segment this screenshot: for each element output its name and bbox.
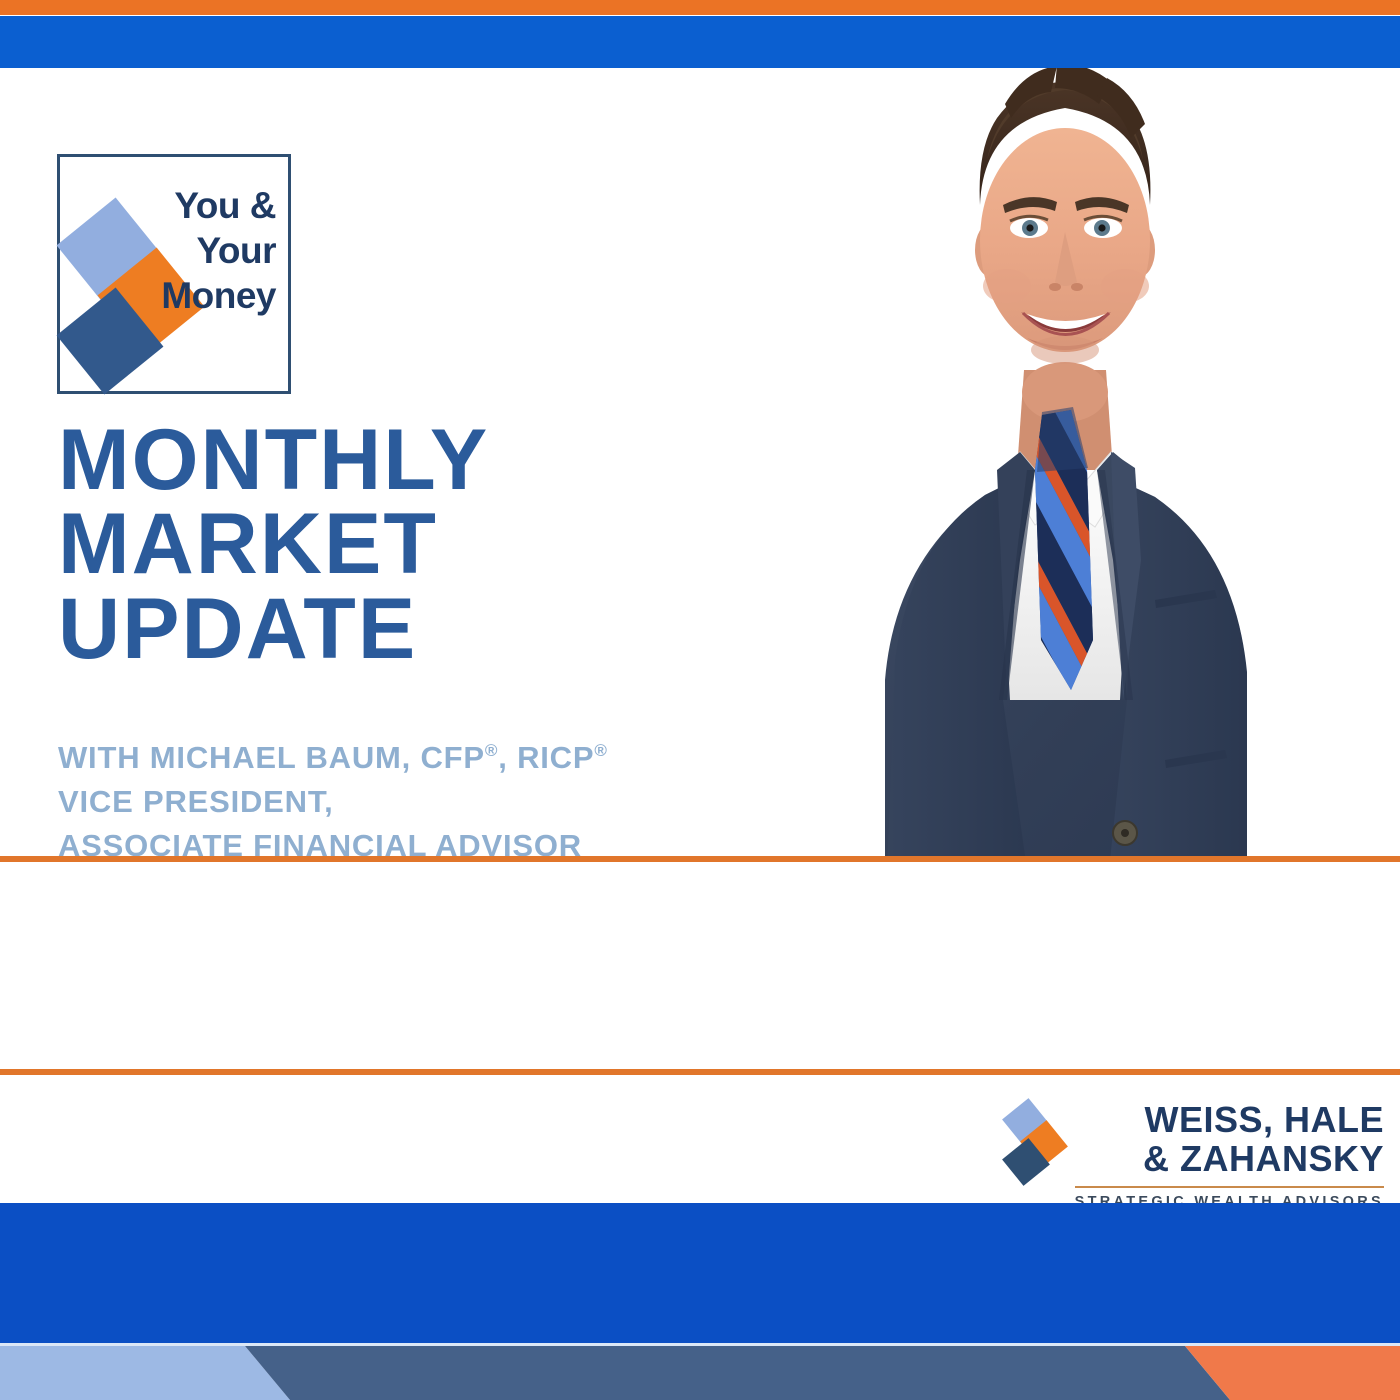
credits-line-1: WITH MICHAEL BAUM, CFP®, RICP® [58,736,758,780]
logo-wordmark: You & Your Money [128,183,276,318]
slide-canvas: You & Your Money MONTHLY MARKET UPDATE W… [0,0,1400,1400]
bottom-blue-band [0,1203,1400,1343]
weiss-hale-zahansky-logo: WEISS, HALE & ZAHANSKY STRATEGIC WEALTH … [1005,1101,1384,1210]
whz-logo-diamonds [1005,1103,1063,1187]
portrait-illustration [735,68,1400,858]
top-blue-bar [0,16,1400,68]
chevron-slate-blue [245,1346,1230,1400]
you-and-your-money-logo: You & Your Money [57,154,291,394]
title-line-2: MARKET [58,502,718,586]
hero-section: You & Your Money MONTHLY MARKET UPDATE W… [0,68,1400,858]
logo-line-3: Money [128,273,276,318]
top-orange-bar [0,0,1400,15]
logo-line-2: Your [128,228,276,273]
registered-mark-2: ® [594,741,607,760]
whz-divider-rule [1075,1186,1384,1188]
michael-baum-portrait [735,68,1400,858]
credits-middle: , RICP [498,740,594,775]
credits-line-3: ASSOCIATE FINANCIAL ADVISOR [58,824,758,858]
whz-wordmark: WEISS, HALE & ZAHANSKY STRATEGIC WEALTH … [1075,1101,1384,1210]
credits-name: WITH MICHAEL BAUM, CFP [58,740,485,775]
content-blank-area [0,862,1400,1069]
whz-name-line-1: WEISS, HALE [1075,1101,1384,1140]
logo-line-1: You & [128,183,276,228]
whz-name-line-2: & ZAHANSKY [1075,1140,1384,1179]
chevron-light-blue [0,1346,290,1400]
presenter-credits: WITH MICHAEL BAUM, CFP®, RICP® VICE PRES… [58,736,758,858]
bottom-chevron-strip [0,1346,1400,1400]
registered-mark-1: ® [485,741,498,760]
title-line-1: MONTHLY [58,418,718,502]
page-title: MONTHLY MARKET UPDATE [58,418,718,671]
title-line-3: UPDATE [58,587,718,671]
credits-line-2: VICE PRESIDENT, [58,780,758,824]
